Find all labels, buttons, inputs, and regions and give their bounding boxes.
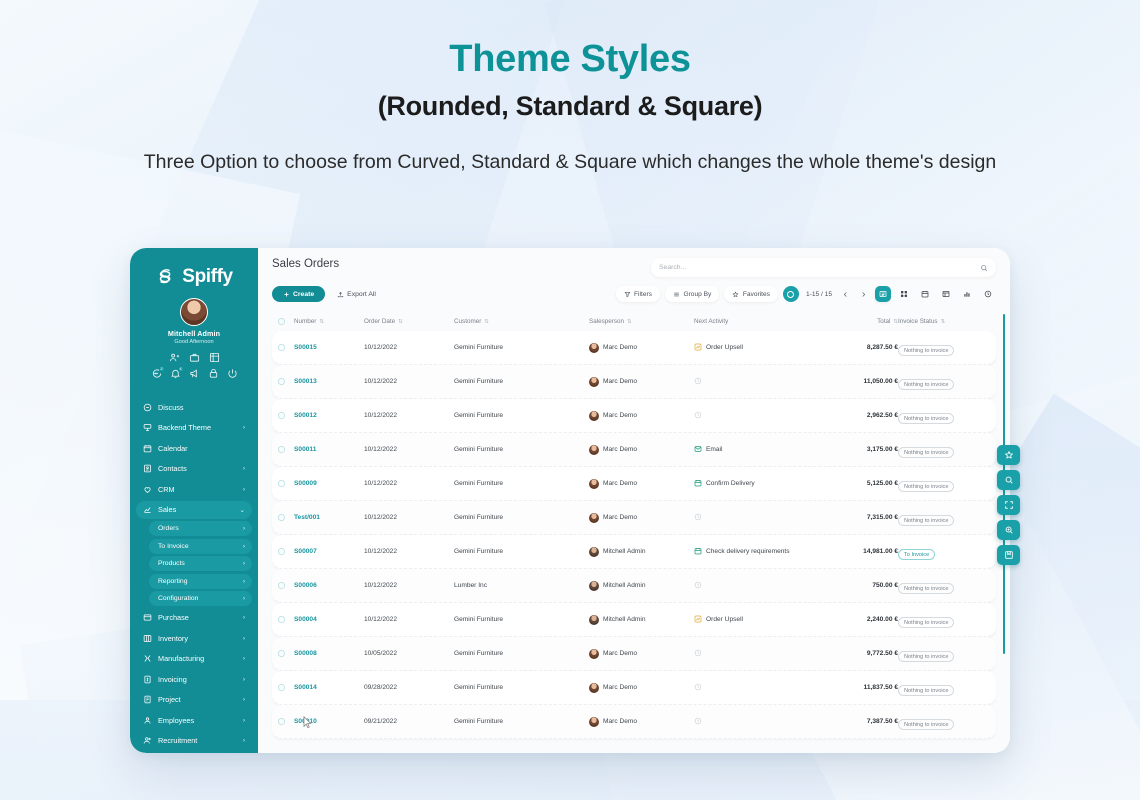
sidebar-subitem-orders[interactable]: Orders › [149, 521, 252, 536]
user-profile[interactable]: Mitchell Admin Good Afternoon 2 4 [130, 298, 258, 394]
create-button[interactable]: Create [272, 286, 325, 302]
circle-checkbox-icon [278, 480, 285, 487]
fullscreen-button[interactable] [997, 495, 1020, 515]
calendar-view-icon [921, 290, 929, 298]
clock-icon [694, 411, 702, 421]
clock-icon [694, 581, 702, 591]
sales-icon [143, 505, 152, 514]
cell-customer: Gemini Furniture [454, 650, 589, 657]
cell-next-activity: Email [694, 445, 820, 455]
user-greeting: Good Afternoon [130, 339, 258, 345]
avatar [589, 377, 599, 387]
column-header-number[interactable]: Number⇅ [294, 318, 364, 325]
activity-label: Confirm Delivery [706, 480, 755, 487]
circle-checkbox-icon [278, 582, 285, 589]
cell-salesperson: Marc Demo [589, 683, 694, 693]
cell-next-activity [694, 649, 820, 659]
table-row[interactable]: S0000610/12/2022Lumber IncMitchell Admin… [272, 569, 996, 603]
chart-icon [694, 343, 702, 353]
sidebar-item-inventory[interactable]: Inventory › [136, 629, 252, 647]
column-header-total[interactable]: Total⇅ [820, 318, 898, 325]
cell-customer: Lumber Inc [454, 582, 589, 589]
clock-icon [694, 717, 702, 727]
cell-total: 14,981.00 € [820, 548, 898, 555]
row-checkbox[interactable] [278, 344, 294, 351]
status-badge: Nothing to invoice [898, 583, 954, 594]
column-header-invoice-status[interactable]: Invoice Status⇅ [898, 318, 990, 325]
chevron-right-icon: › [243, 560, 245, 567]
select-all-checkbox[interactable] [278, 318, 294, 325]
save-icon [1004, 550, 1014, 560]
row-checkbox[interactable] [278, 378, 294, 385]
table-row[interactable]: S0001310/12/2022Gemini FurnitureMarc Dem… [272, 365, 996, 399]
table-row[interactable]: S0001210/12/2022Gemini FurnitureMarc Dem… [272, 399, 996, 433]
cell-invoice-status: Nothing to invoice [898, 645, 990, 663]
sidebar-item-label: Discuss [158, 403, 239, 412]
salesperson-name: Marc Demo [603, 344, 637, 351]
app-mockup-window: Spiffy Mitchell Admin Good Afternoon 2 4 [130, 248, 1010, 753]
circle-icon [787, 291, 794, 298]
quick-icons-row-1 [130, 352, 258, 363]
apps-grid-icon[interactable] [209, 352, 220, 363]
search-input[interactable]: Search... [659, 264, 980, 271]
sidebar-item-backend-theme[interactable]: Backend Theme › [136, 419, 252, 437]
cell-next-activity: Order Upsell [694, 343, 820, 353]
sidebar-item-purchase[interactable]: Purchase › [136, 609, 252, 627]
favorite-star-button[interactable] [997, 445, 1020, 465]
cell-customer: Gemini Furniture [454, 480, 589, 487]
filter-icon [624, 291, 631, 298]
sidebar-item-label: Manufacturing [158, 654, 237, 663]
share-users-icon[interactable] [169, 352, 180, 363]
cell-total: 11,837.50 € [820, 684, 898, 691]
table-row[interactable]: Test/00110/12/2022Gemini FurnitureMarc D… [272, 501, 996, 535]
table-row[interactable]: S0001009/21/2022Gemini FurnitureMarc Dem… [272, 705, 996, 739]
page-title: Theme Styles [0, 38, 1140, 82]
cell-invoice-status: Nothing to invoice [898, 713, 990, 731]
cell-order-date: 09/28/2022 [364, 684, 454, 691]
column-header-order-date[interactable]: Order Date⇅ [364, 318, 454, 325]
avatar [589, 683, 599, 693]
sidebar-item-manufacturing[interactable]: Manufacturing › [136, 650, 252, 668]
status-badge: Nothing to invoice [898, 447, 954, 458]
cell-total: 750.00 € [820, 582, 898, 589]
activity-label: Email [706, 446, 723, 453]
cell-total: 2,240.00 € [820, 616, 898, 623]
chevron-right-icon: › [243, 525, 245, 532]
circle-checkbox-icon [278, 446, 285, 453]
salesperson-name: Marc Demo [603, 650, 637, 657]
circle-checkbox-icon [278, 616, 285, 623]
cell-order-date: 10/05/2022 [364, 650, 454, 657]
circle-checkbox-icon [278, 650, 285, 657]
sidebar-subitem-label: Orders [158, 525, 237, 532]
chart-icon [694, 615, 702, 625]
row-checkbox[interactable] [278, 650, 294, 657]
cell-salesperson: Marc Demo [589, 479, 694, 489]
floating-action-rail [997, 445, 1020, 565]
salesperson-name: Mitchell Admin [603, 616, 646, 623]
status-badge: Nothing to invoice [898, 651, 954, 662]
chevron-right-icon: › [243, 595, 245, 602]
row-checkbox[interactable] [278, 616, 294, 623]
cell-customer: Gemini Furniture [454, 378, 589, 385]
status-badge: Nothing to invoice [898, 345, 954, 356]
salesperson-name: Marc Demo [603, 514, 637, 521]
cell-salesperson: Mitchell Admin [589, 581, 694, 591]
sidebar-subitem-to-invoice[interactable]: To Invoice › [149, 539, 252, 554]
table-row[interactable]: S0000910/12/2022Gemini FurnitureMarc Dem… [272, 467, 996, 501]
column-label: Order Date [364, 318, 395, 325]
arrow-left-icon [842, 291, 849, 298]
cell-number[interactable]: Test/001 [294, 514, 364, 521]
sort-icon: ⇅ [627, 319, 632, 325]
sidebar-item-calendar[interactable]: Calendar [136, 439, 252, 457]
view-kanban-button[interactable] [896, 286, 912, 302]
sidebar-subitem-label: To Invoice [158, 543, 237, 550]
cell-invoice-status: Nothing to invoice [898, 475, 990, 493]
cell-salesperson: Mitchell Admin [589, 547, 694, 557]
sidebar-subitem-configuration[interactable]: Configuration › [149, 591, 252, 606]
groupby-button[interactable]: Group By [665, 286, 719, 302]
row-checkbox[interactable] [278, 412, 294, 419]
column-label: Invoice Status [898, 318, 938, 325]
sidebar-item-label: Backend Theme [158, 423, 237, 432]
cell-next-activity: Order Upsell [694, 615, 820, 625]
cell-next-activity [694, 513, 820, 523]
column-header-salesperson[interactable]: Salesperson⇅ [589, 318, 694, 325]
cell-total: 3,175.00 € [820, 446, 898, 453]
cell-invoice-status: To Invoice [898, 543, 990, 561]
sidebar-item-recruitment[interactable]: Recruitment › [136, 732, 252, 750]
table-row[interactable]: S0001110/12/2022Gemini FurnitureMarc Dem… [272, 433, 996, 467]
sidebar-subitem-label: Reporting [158, 578, 237, 585]
column-header-customer[interactable]: Customer⇅ [454, 318, 589, 325]
cell-total: 2,962.50 € [820, 412, 898, 419]
bell-icon[interactable]: 4 [170, 368, 181, 379]
recruitment-icon [143, 736, 152, 745]
cell-salesperson: Marc Demo [589, 411, 694, 421]
row-checkbox[interactable] [278, 446, 294, 453]
sidebar-subitem-label: Configuration [158, 595, 237, 602]
chevron-right-icon: › [243, 578, 245, 585]
circle-checkbox-icon [278, 318, 285, 325]
cell-number[interactable]: S00011 [294, 446, 364, 453]
mouse-cursor [303, 716, 312, 728]
cell-next-activity [694, 683, 820, 693]
cell-salesperson: Marc Demo [589, 377, 694, 387]
zoom-in-icon [1004, 525, 1014, 535]
cell-total: 5,125.00 € [820, 480, 898, 487]
search-icon [1004, 475, 1014, 485]
view-list-button[interactable] [875, 286, 891, 302]
top-toolbar: Sales Orders Search... Create [258, 248, 1010, 312]
zoom-button[interactable] [997, 520, 1020, 540]
employees-icon [143, 716, 152, 725]
cell-salesperson: Marc Demo [589, 343, 694, 353]
status-badge: Nothing to invoice [898, 413, 954, 424]
cell-customer: Gemini Furniture [454, 514, 589, 521]
avatar [589, 513, 599, 523]
sidebar-item-label: Recruitment [158, 736, 237, 745]
sidebar-item-label: Employees [158, 716, 237, 725]
salesperson-name: Mitchell Admin [603, 582, 646, 589]
salesperson-name: Marc Demo [603, 684, 637, 691]
pivot-view-icon [942, 290, 950, 298]
table-row[interactable]: S0000810/05/2022Gemini FurnitureMarc Dem… [272, 637, 996, 671]
action-buttons: Create Export All [272, 286, 381, 302]
arrow-right-icon [860, 291, 867, 298]
circle-checkbox-icon [278, 548, 285, 555]
cell-next-activity: Check delivery requirements [694, 547, 820, 557]
cell-invoice-status: Nothing to invoice [898, 577, 990, 595]
sidebar-subitem-products[interactable]: Products › [149, 556, 252, 571]
table-row[interactable]: S0000410/12/2022Gemini FurnitureMitchell… [272, 603, 996, 637]
discuss-icon [143, 403, 152, 412]
status-badge: Nothing to invoice [898, 617, 954, 628]
status-badge: Nothing to invoice [898, 481, 954, 492]
save-button[interactable] [997, 545, 1020, 565]
cell-order-date: 10/12/2022 [364, 582, 454, 589]
page-subtitle: (Rounded, Standard & Square) [0, 91, 1140, 122]
search-button[interactable] [997, 470, 1020, 490]
chevron-right-icon: › [243, 655, 245, 662]
chevron-right-icon: › [243, 465, 245, 472]
clock-icon [694, 683, 702, 693]
view-pivot-button[interactable] [938, 286, 954, 302]
bell-badge: 4 [178, 366, 184, 372]
column-header-next-activity[interactable]: Next Activity [694, 318, 820, 325]
clock-icon [694, 513, 702, 523]
cell-number[interactable]: S00008 [294, 650, 364, 657]
status-badge: Nothing to invoice [898, 515, 954, 526]
circle-checkbox-icon [278, 718, 285, 725]
cell-salesperson: Marc Demo [589, 445, 694, 455]
orders-table: Number⇅ Order Date⇅ Customer⇅ Salesperso… [258, 312, 1010, 753]
cell-customer: Gemini Furniture [454, 718, 589, 725]
table-row[interactable]: S0001409/28/2022Gemini FurnitureMarc Dem… [272, 671, 996, 705]
cell-order-date: 10/12/2022 [364, 446, 454, 453]
filters-button[interactable]: Filters [616, 286, 660, 302]
search-box[interactable]: Search... [651, 258, 996, 277]
sidebar-item-label: Project [158, 695, 237, 704]
status-badge: Nothing to invoice [898, 719, 954, 730]
cell-number[interactable]: S00012 [294, 412, 364, 419]
previous-page-button[interactable] [839, 288, 852, 301]
sort-icon: ⇅ [893, 319, 898, 325]
status-badge: Nothing to invoice [898, 685, 954, 696]
cell-number[interactable]: S00014 [294, 684, 364, 691]
cell-customer: Gemini Furniture [454, 344, 589, 351]
cell-next-activity [694, 377, 820, 387]
cell-total: 7,387.50 € [820, 718, 898, 725]
sidebar-subitem-reporting[interactable]: Reporting › [149, 574, 252, 589]
theme-icon [143, 423, 152, 432]
power-icon[interactable] [227, 368, 238, 379]
cell-order-date: 10/12/2022 [364, 514, 454, 521]
cell-order-date: 10/12/2022 [364, 480, 454, 487]
upload-icon [337, 291, 344, 298]
cell-next-activity [694, 411, 820, 421]
activity-label: Order Upsell [706, 616, 743, 623]
sidebar-nav: Discuss Backend Theme › Calendar Contact… [130, 394, 258, 753]
cell-number[interactable]: S00009 [294, 480, 364, 487]
avatar [589, 547, 599, 557]
sidebar-item-crm[interactable]: CRM › [136, 480, 252, 498]
view-title: Sales Orders [272, 258, 339, 270]
export-all-button[interactable]: Export All [332, 286, 381, 302]
plus-icon [283, 291, 290, 298]
avatar [589, 717, 599, 727]
sidebar-item-invoicing[interactable]: Invoicing › [136, 670, 252, 688]
cell-number[interactable]: S00006 [294, 582, 364, 589]
contacts-icon [143, 464, 152, 473]
cell-customer: Gemini Furniture [454, 548, 589, 555]
email-icon [694, 445, 702, 455]
row-checkbox[interactable] [278, 514, 294, 521]
avatar [180, 298, 208, 326]
chevron-right-icon: › [243, 737, 245, 744]
graph-view-icon [963, 290, 971, 298]
star-icon [732, 291, 739, 298]
chevron-right-icon: › [243, 635, 245, 642]
brand-name: Spiffy [182, 266, 232, 288]
status-badge: Nothing to invoice [898, 379, 954, 390]
row-checkbox[interactable] [278, 582, 294, 589]
star-icon [1004, 450, 1014, 460]
inventory-icon [143, 634, 152, 643]
groupby-label: Group By [683, 291, 711, 298]
kanban-view-icon [900, 290, 908, 298]
headings-block: Theme Styles (Rounded, Standard & Square… [0, 0, 1140, 176]
table-header-row: Number⇅ Order Date⇅ Customer⇅ Salesperso… [272, 312, 996, 331]
salesperson-name: Marc Demo [603, 378, 637, 385]
view-activity-button[interactable] [980, 286, 996, 302]
sidebar-item-contacts[interactable]: Contacts › [136, 460, 252, 478]
calendar-icon [143, 444, 152, 453]
view-calendar-button[interactable] [917, 286, 933, 302]
sidebar-item-label: Purchase [158, 613, 237, 622]
chevron-right-icon: › [243, 486, 245, 493]
view-controls: Filters Group By Favorites 1-15 / 15 [616, 286, 996, 302]
list-lines-icon [673, 291, 680, 298]
create-label: Create [293, 291, 314, 298]
sidebar-subitem-label: Products [158, 560, 237, 567]
invoicing-icon [143, 675, 152, 684]
sort-icon: ⇅ [398, 319, 403, 325]
cell-order-date: 10/12/2022 [364, 548, 454, 555]
salesperson-name: Mitchell Admin [603, 548, 646, 555]
purchase-icon [143, 613, 152, 622]
salesperson-name: Marc Demo [603, 446, 637, 453]
sidebar-item-sales[interactable]: Sales ⌄ [136, 501, 252, 519]
cell-customer: Gemini Furniture [454, 412, 589, 419]
cell-number[interactable]: S00015 [294, 344, 364, 351]
chevron-down-icon: ⌄ [240, 506, 245, 514]
sidebar-item-label: Invoicing [158, 675, 237, 684]
cell-number[interactable]: S00004 [294, 616, 364, 623]
table-row[interactable]: S0000710/12/2022Gemini FurnitureMitchell… [272, 535, 996, 569]
crm-icon [143, 485, 152, 494]
chevron-right-icon: › [243, 717, 245, 724]
row-checkbox[interactable] [278, 718, 294, 725]
cell-total: 8,287.50 € [820, 344, 898, 351]
lock-icon[interactable] [208, 368, 219, 379]
cell-order-date: 10/12/2022 [364, 412, 454, 419]
briefcase-icon[interactable] [189, 352, 200, 363]
chevron-right-icon: › [243, 543, 245, 550]
activity-label: Order Upsell [706, 344, 743, 351]
cell-order-date: 10/12/2022 [364, 344, 454, 351]
sidebar: Spiffy Mitchell Admin Good Afternoon 2 4 [130, 248, 258, 753]
cell-invoice-status: Nothing to invoice [898, 339, 990, 357]
cell-number[interactable]: S00013 [294, 378, 364, 385]
status-badge: To Invoice [898, 549, 935, 560]
clock-icon [694, 377, 702, 387]
column-label: Number [294, 318, 316, 325]
quick-icons-row-2: 2 4 [130, 368, 258, 388]
cell-order-date: 09/21/2022 [364, 718, 454, 725]
table-row[interactable]: S0001510/12/2022Gemini FurnitureMarc Dem… [272, 331, 996, 365]
sidebar-item-discuss[interactable]: Discuss [136, 398, 252, 416]
avatar [589, 343, 599, 353]
calendar-icon [694, 479, 702, 489]
cell-order-date: 10/12/2022 [364, 378, 454, 385]
cell-next-activity [694, 717, 820, 727]
cell-number[interactable]: S00007 [294, 548, 364, 555]
pagination-label: 1-15 / 15 [804, 291, 834, 298]
row-checkbox[interactable] [278, 548, 294, 555]
next-page-button[interactable] [857, 288, 870, 301]
favorites-button[interactable]: Favorites [724, 286, 778, 302]
chat-bubble-icon[interactable]: 2 [151, 368, 162, 379]
page-description: Three Option to choose from Curved, Stan… [0, 148, 1140, 176]
brand-logo[interactable]: Spiffy [130, 258, 258, 298]
spiffy-logo-icon [155, 266, 177, 288]
clock-icon [984, 290, 992, 298]
sidebar-item-employees[interactable]: Employees › [136, 711, 252, 729]
sidebar-item-label: Contacts [158, 464, 237, 473]
list-view-icon [879, 290, 887, 298]
chat-badge: 2 [159, 366, 165, 372]
user-name: Mitchell Admin [130, 329, 258, 338]
circle-checkbox-icon [278, 514, 285, 521]
refresh-button[interactable] [783, 286, 799, 302]
column-label: Next Activity [694, 318, 728, 325]
row-checkbox[interactable] [278, 480, 294, 487]
row-checkbox[interactable] [278, 684, 294, 691]
filters-label: Filters [634, 291, 652, 298]
cell-salesperson: Marc Demo [589, 649, 694, 659]
sidebar-item-apps[interactable]: Apps › [136, 752, 252, 753]
circle-checkbox-icon [278, 378, 285, 385]
export-label: Export All [347, 291, 376, 298]
circle-checkbox-icon [278, 344, 285, 351]
page-root: Theme Styles (Rounded, Standard & Square… [0, 0, 1140, 800]
view-graph-button[interactable] [959, 286, 975, 302]
sort-icon: ⇅ [484, 319, 489, 325]
cell-salesperson: Marc Demo [589, 717, 694, 727]
cell-invoice-status: Nothing to invoice [898, 679, 990, 697]
sidebar-item-label: Sales [158, 505, 234, 514]
sidebar-item-project[interactable]: Project › [136, 691, 252, 709]
sort-icon: ⇅ [319, 319, 324, 325]
search-icon [980, 264, 988, 272]
project-icon [143, 695, 152, 704]
megaphone-icon[interactable] [189, 368, 200, 379]
salesperson-name: Marc Demo [603, 718, 637, 725]
chevron-right-icon: › [243, 696, 245, 703]
